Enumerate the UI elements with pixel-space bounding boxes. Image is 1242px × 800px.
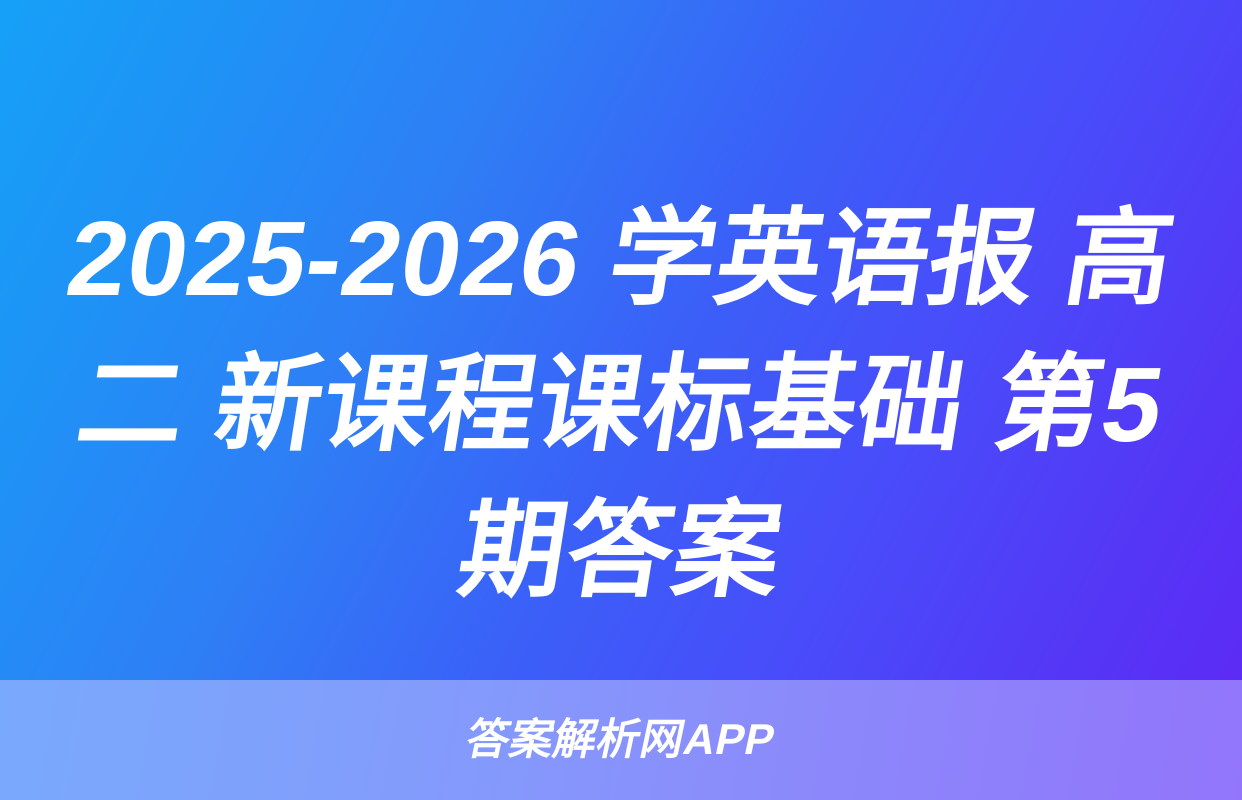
headline-line-1: 2025-2026 学英语报 高 [24, 186, 1217, 332]
watermark-bar: 答案解析网APP [0, 680, 1242, 800]
headline-block: 2025-2026 学英语报 高 二 新课程课标基础 第5 期答案 [0, 186, 1242, 616]
headline-line-2: 二 新课程课标基础 第5 [24, 332, 1217, 478]
headline-line-3: 期答案 [24, 478, 1217, 624]
watermark-text: 答案解析网APP [462, 716, 780, 764]
poster-canvas: 2025-2026 学英语报 高 二 新课程课标基础 第5 期答案 答案解析网A… [0, 0, 1242, 800]
